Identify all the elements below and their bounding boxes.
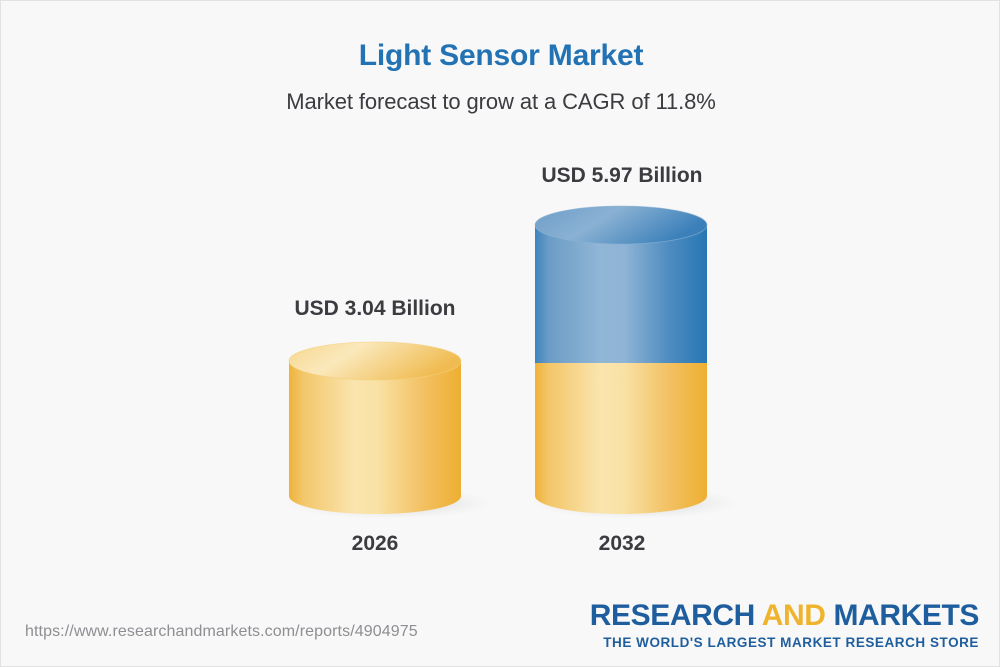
logo-word-markets: MARKETS	[826, 599, 979, 632]
research-and-markets-logo[interactable]: RESEARCH AND MARKETS THE WORLD'S LARGEST…	[590, 601, 979, 650]
logo-wordmark: RESEARCH AND MARKETS	[590, 601, 979, 631]
logo-word-research: RESEARCH	[590, 599, 762, 632]
logo-tagline: THE WORLD'S LARGEST MARKET RESEARCH STOR…	[590, 636, 979, 650]
source-url[interactable]: https://www.researchandmarkets.com/repor…	[25, 623, 418, 641]
category-label-2026: 2026	[235, 532, 515, 556]
category-label-2032: 2032	[482, 532, 762, 556]
value-label-2032: USD 5.97 Billion	[482, 164, 762, 188]
bar-2026	[285, 342, 493, 519]
chart-poster: Light Sensor Market Market forecast to g…	[0, 0, 1000, 667]
logo-word-and: AND	[762, 599, 826, 632]
bar-2032	[531, 206, 739, 519]
value-label-2026: USD 3.04 Billion	[235, 297, 515, 321]
